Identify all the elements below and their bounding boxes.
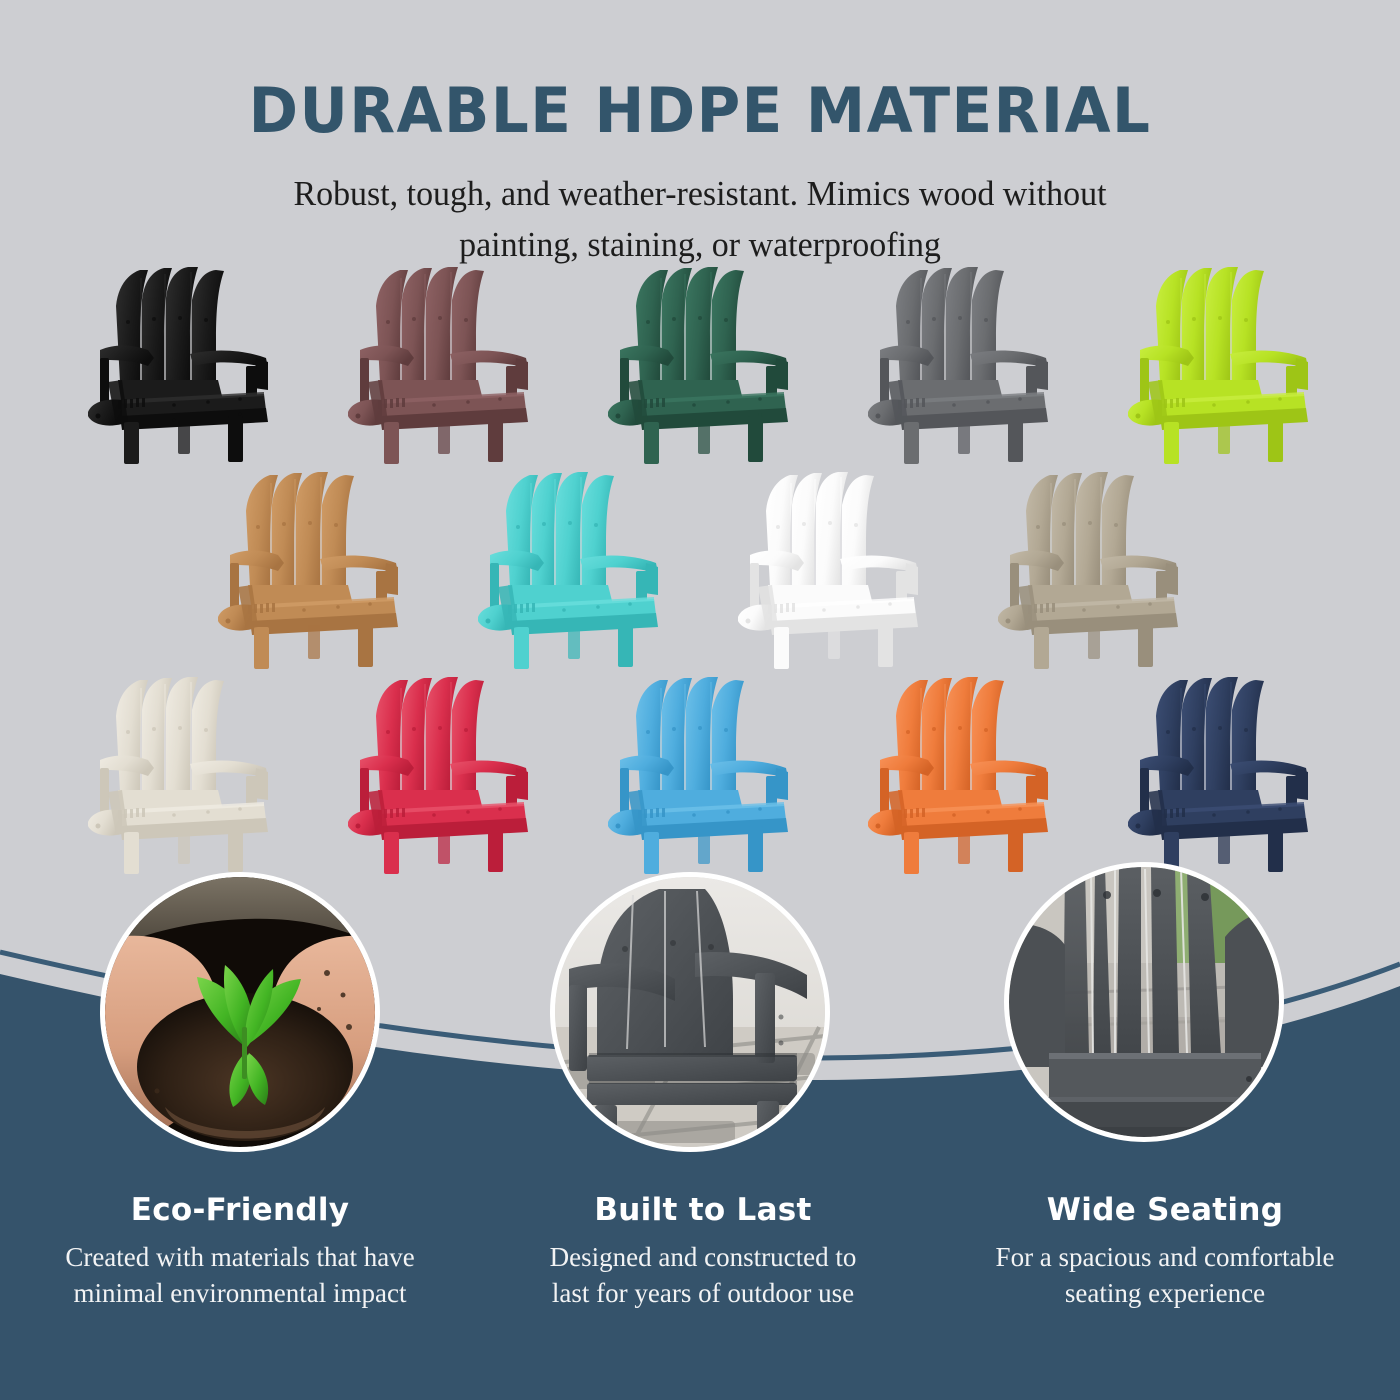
feature-title: Wide Seating [930,1192,1400,1228]
chair-swatch-lime-green[interactable] [1118,262,1323,462]
adirondack-chair-icon [1118,672,1323,877]
header: DURABLE HDPE MATERIAL Robust, tough, and… [0,0,1400,271]
subtitle-line-1: Robust, tough, and weather-resistant. Mi… [21,169,1379,220]
feature-title: Eco-Friendly [5,1192,475,1228]
adirondack-chair-icon [1118,262,1323,467]
durable-photo-circle [550,872,830,1152]
chair-swatch-turquoise[interactable] [468,467,673,667]
adirondack-chair-icon [78,262,283,467]
chair-color-grid [0,262,1400,882]
adirondack-chair-icon [598,672,803,877]
adirondack-chair-icon [988,467,1193,672]
adirondack-chair-icon [858,672,1063,877]
feature-title: Built to Last [468,1192,938,1228]
chair-swatch-teak-brown[interactable] [208,467,413,667]
eco-photo [105,877,375,1147]
chair-swatch-orange[interactable] [858,672,1063,872]
eco-photo-circle [100,872,380,1152]
feature-desc-line-1: Designed and constructed to [468,1240,938,1276]
chair-swatch-wine-red[interactable] [338,262,543,462]
feature-desc-line-1: For a spacious and comfortable [930,1240,1400,1276]
infographic-canvas: DURABLE HDPE MATERIAL Robust, tough, and… [0,0,1400,1400]
chair-swatch-ivory[interactable] [78,672,283,872]
adirondack-chair-icon [728,467,933,672]
page-title: DURABLE HDPE MATERIAL [28,78,1372,143]
feature-desc-line-1: Created with materials that have [5,1240,475,1276]
feature-eco-friendly: Eco-Friendly Created with materials that… [5,1192,475,1312]
adirondack-chair-icon [468,467,673,672]
chair-swatch-dark-green[interactable] [598,262,803,462]
adirondack-chair-icon [78,672,283,877]
adirondack-chair-icon [858,262,1063,467]
chair-row-3 [0,672,1400,872]
wide-seat-closeup-icon [1009,867,1279,1137]
chair-swatch-weathered-wood[interactable] [988,467,1193,667]
hands-holding-seedling-icon [105,877,375,1147]
feature-description: Created with materials that have minimal… [5,1240,475,1312]
chair-swatch-black[interactable] [78,262,283,462]
feature-desc-line-2: seating experience [930,1276,1400,1312]
chair-swatch-gray[interactable] [858,262,1063,462]
adirondack-chair-icon [598,262,803,467]
durable-photo [555,877,825,1147]
adirondack-chair-icon [338,672,543,877]
adirondack-chair-icon [338,262,543,467]
feature-desc-line-2: last for years of outdoor use [468,1276,938,1312]
chair-swatch-white[interactable] [728,467,933,667]
seating-photo [1009,867,1279,1137]
feature-description: Designed and constructed to last for yea… [468,1240,938,1312]
chair-row-1 [0,262,1400,462]
page-subtitle: Robust, tough, and weather-resistant. Mi… [21,169,1379,271]
chair-swatch-navy-blue[interactable] [1118,672,1323,872]
feature-desc-line-2: minimal environmental impact [5,1276,475,1312]
feature-wide-seating: Wide Seating For a spacious and comforta… [930,1192,1400,1312]
feature-built-to-last: Built to Last Designed and constructed t… [468,1192,938,1312]
adirondack-chair-icon [208,467,413,672]
seating-photo-circle [1004,862,1284,1142]
chair-swatch-red[interactable] [338,672,543,872]
chair-swatch-light-blue[interactable] [598,672,803,872]
feature-description: For a spacious and comfortable seating e… [930,1240,1400,1312]
gray-chair-on-patio-icon [555,877,825,1147]
chair-row-2 [0,467,1400,667]
